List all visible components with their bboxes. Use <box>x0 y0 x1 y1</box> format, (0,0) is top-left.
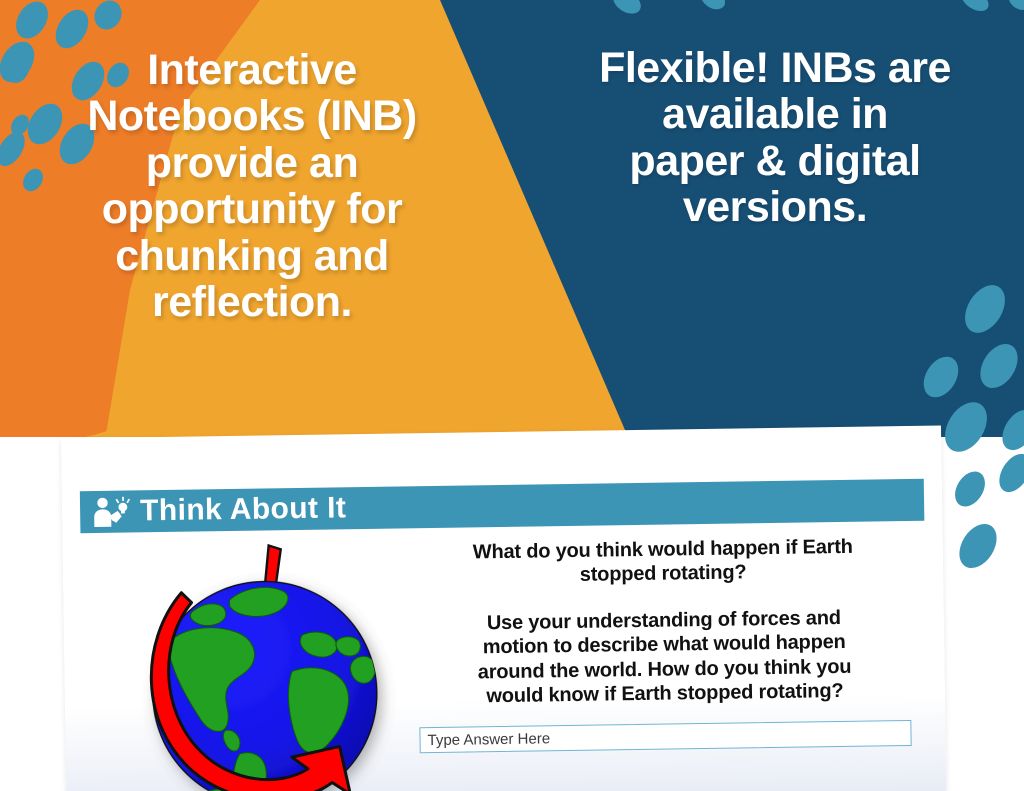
person-idea-lightbulb-icon <box>90 494 132 529</box>
headline-left: Interactive Notebooks (INB) provide an o… <box>52 47 452 326</box>
headline-right: Flexible! INBs are available in paper & … <box>560 45 990 231</box>
think-about-it-banner: Think About It <box>80 479 925 534</box>
question-column: What do you think would happen if Earth … <box>407 534 922 754</box>
banner-title: Think About It <box>140 491 347 528</box>
answer-input[interactable] <box>419 720 911 753</box>
worksheet-card: Think About It <box>61 425 946 791</box>
question-text-2: Use your understanding of forces and mot… <box>408 605 921 710</box>
question-text-1: What do you think would happen if Earth … <box>407 534 920 590</box>
slide-canvas: Interactive Notebooks (INB) provide an o… <box>0 0 1024 791</box>
rotating-earth-globe <box>133 541 407 791</box>
